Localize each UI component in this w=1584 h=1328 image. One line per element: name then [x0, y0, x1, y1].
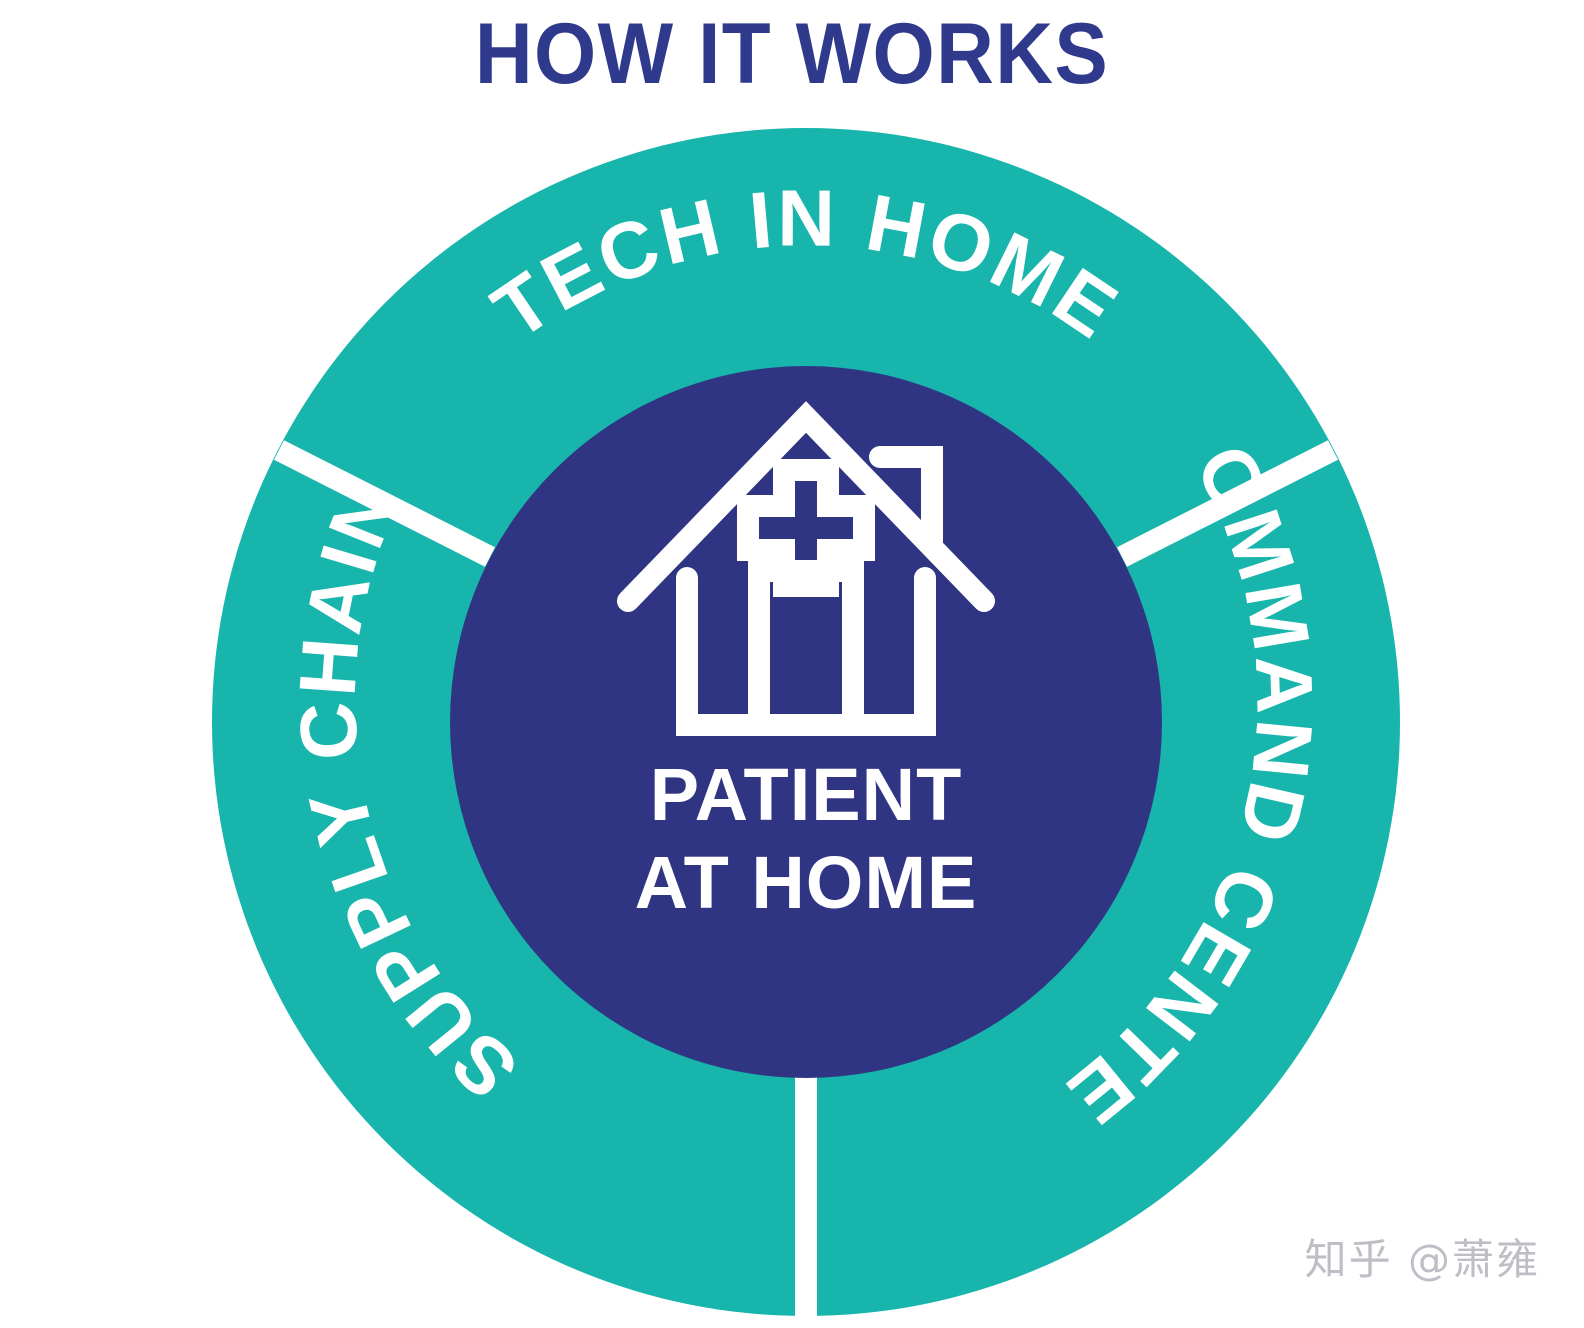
watermark: 知乎 @萧雍	[1305, 1236, 1540, 1284]
diagram-canvas: HOW IT WORKS	[0, 0, 1584, 1328]
center-label-line-2: AT HOME	[635, 841, 978, 924]
center-label-line-1: PATIENT	[650, 753, 963, 836]
how-it-works-diagram: TECH IN HOME COMMAND CENTER SUPPLY CHAIN	[0, 0, 1584, 1328]
